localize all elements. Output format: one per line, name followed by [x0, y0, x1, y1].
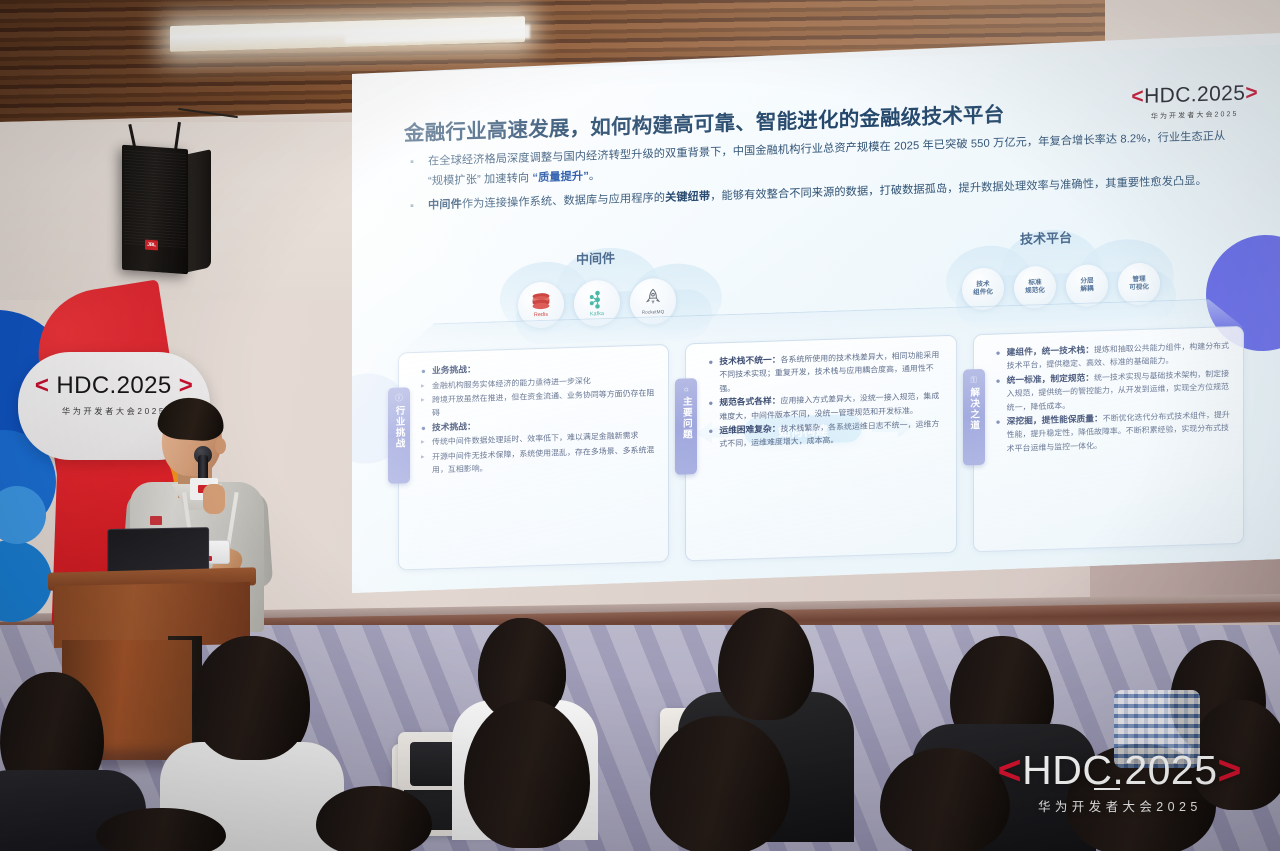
middleware-cloud-title: 中间件: [576, 248, 615, 268]
list-bullet: ●: [996, 415, 1002, 455]
column-body: ●建组件，统一技术栈：提炼和抽取公共能力组件，构建分布式技术平台，提供稳定、高效…: [974, 327, 1243, 468]
component-redis-label: Redis: [534, 311, 548, 317]
list-bullet: ●: [996, 374, 1002, 414]
projection-screen-surface: 金融行业高速发展，如何构建高可靠、智能进化的金融级技术平台 <HDC.2025>…: [352, 4, 1280, 593]
list-item: ●技术栈不统一：各系统所使用的技术栈差异大，相同功能采用不同技术实现；重复开发，…: [708, 348, 943, 396]
list-bullet: ●: [708, 397, 714, 424]
list-item-bold: 运维困难复杂：: [719, 423, 780, 435]
question-mark-icon: ⓘ: [395, 393, 403, 402]
list-bullet: ●: [708, 355, 714, 395]
capability-label: 标准 规范化: [1025, 279, 1045, 296]
audience-head-hair: [192, 636, 310, 760]
column-tab-main-problems: ☼ 主要问题: [675, 378, 697, 475]
audience-head: [650, 716, 790, 851]
column-tab-label: 解决之道: [968, 387, 979, 431]
list-item-bold: 技术挑战：: [432, 421, 476, 432]
column-solutions: ⚿ 解决之道 ●建组件，统一技术栈：提炼和抽取公共能力组件，构建分布式技术平台，…: [973, 326, 1244, 553]
column-industry-challenges: ⓘ 行业挑战 ●业务挑战： ▸金融机构服务实体经济的能力亟待进一步深化 ▸跨境开…: [398, 344, 669, 571]
chevron-left-icon: <: [35, 372, 49, 399]
jbl-logo-icon: JBL: [145, 240, 158, 251]
column-tab-label: 主要问题: [681, 396, 692, 440]
capability-label: 技术 组件化: [973, 280, 993, 297]
watermark-underscore: [1094, 788, 1120, 791]
list-bullet: ▸: [421, 436, 427, 450]
audience-head: [316, 786, 432, 851]
column-body: ●业务挑战： ▸金融机构服务实体经济的能力亟待进一步深化 ▸跨境开放虽然在推进，…: [399, 345, 668, 489]
bullet-seg: 作为连接操作系统、数据库与应用程序的: [462, 192, 665, 210]
jbl-logo-text: JBL: [147, 242, 156, 249]
slide-brand-text: HDC.2025: [1144, 82, 1245, 108]
bullet-seg-bold: 关键纽带: [665, 191, 710, 204]
list-bullet: ●: [421, 365, 427, 379]
capability-label: 分层 解耦: [1080, 277, 1093, 294]
list-item-bold: 规范各式各样：: [719, 396, 780, 408]
watermark-text: HDC.2025: [1022, 747, 1217, 793]
podium-front-panel: [54, 582, 250, 648]
column-tab-label: 行业挑战: [394, 405, 405, 449]
slide-chevron-right-icon: >: [1245, 81, 1258, 104]
list-bullet: ▸: [421, 379, 427, 393]
presenter-hand: [203, 484, 225, 514]
list-item-text: 深挖掘，提性能保质量：不断优化迭代分布式技术组件，提升性能，提升稳定性，降低故障…: [1007, 408, 1231, 455]
list-item: ●统一标准，制定规范：统一技术实现与基础技术架构，制定接入规范，提供统一的管控能…: [996, 367, 1231, 415]
list-item-text: 开源中间件无技术保障，系统使用混乱，存在多场景、多系统混用，互相影响。: [432, 443, 656, 477]
slide-brand-logo: <HDC.2025> 华为开发者大会2025: [1131, 81, 1258, 123]
slide-brand-sub: 华为开发者大会2025: [1131, 108, 1258, 122]
bullet-marker: ▪: [410, 152, 418, 192]
chevron-right-icon: >: [179, 372, 193, 399]
watermark-chevron-left-icon: <: [998, 747, 1022, 793]
sun-idea-icon: ☼: [683, 384, 690, 393]
list-bullet: ●: [708, 425, 714, 452]
watermark-sub: 华为开发者大会2025: [998, 796, 1242, 815]
slide-chevron-left-icon: <: [1131, 85, 1144, 108]
component-kafka-label: Kafka: [590, 310, 604, 316]
list-bullet: ▸: [421, 450, 427, 477]
slide-three-columns: ⓘ 行业挑战 ●业务挑战： ▸金融机构服务实体经济的能力亟待进一步深化 ▸跨境开…: [398, 326, 1244, 571]
list-item-bold: 统一标准，制定规范：: [1007, 372, 1094, 385]
presenter-shirt-logo-icon: [150, 516, 162, 525]
bullet-marker: ▪: [410, 196, 418, 216]
list-item-bold: 深挖掘，提性能保质量：: [1007, 413, 1103, 426]
audience-head: [880, 748, 1010, 851]
list-item: ●深挖掘，提性能保质量：不断优化迭代分布式技术组件，提升性能，提升稳定性，降低故…: [996, 408, 1231, 456]
list-bullet: ▸: [421, 394, 427, 421]
presentation-slide: 金融行业高速发展，如何构建高可靠、智能进化的金融级技术平台 <HDC.2025>…: [352, 45, 1280, 594]
list-bullet: ●: [996, 346, 1002, 373]
column-body: ●技术栈不统一：各系统所使用的技术栈差异大，相同功能采用不同技术实现；重复开发，…: [686, 336, 955, 463]
capability-label: 管理 可视化: [1129, 275, 1149, 292]
column-tab-industry-challenges: ⓘ 行业挑战: [388, 387, 410, 484]
projection-screen: 金融行业高速发展，如何构建高可靠、智能进化的金融级技术平台 <HDC.2025>…: [352, 33, 1280, 593]
tech-platform-cloud-title: 技术平台: [1020, 227, 1072, 248]
list-item-text: 运维困难复杂：技术栈繁杂，各系统运维日志不统一，运维方式不同，运维难度增大，成本…: [719, 417, 943, 451]
list-item-text: 技术挑战：: [432, 420, 476, 435]
list-item-text: 业务挑战：: [432, 363, 476, 378]
list-item-text: 技术栈不统一：各系统所使用的技术栈差异大，相同功能采用不同技术实现；重复开发，技…: [719, 348, 943, 395]
watermark-main: <HDC.2025>: [998, 747, 1242, 794]
audience-head-hair: [718, 608, 814, 720]
key-icon: ⚿: [971, 375, 977, 384]
list-bullet: ●: [421, 421, 427, 435]
photo-watermark: <HDC.2025> 华为开发者大会2025: [998, 747, 1242, 816]
list-item-bold: 业务挑战：: [432, 364, 476, 375]
rocket-icon: [645, 288, 661, 308]
conference-photo-scene: JBL < HDC.2025 > 华为开发者大会2025: [0, 0, 1280, 851]
watermark-chevron-right-icon: >: [1218, 747, 1242, 793]
audience-head: [464, 700, 590, 848]
stage-backdrop-logo-main: < HDC.2025 >: [34, 372, 194, 400]
speaker-grille: [124, 148, 186, 248]
bullet-seg-bold: 中间件: [428, 199, 462, 212]
slide-brand-main: <HDC.2025>: [1131, 81, 1258, 109]
speaker-cabinet-side: [185, 149, 211, 273]
column-tab-solutions: ⚿ 解决之道: [963, 369, 985, 466]
column-main-problems: ☼ 主要问题 ●技术栈不统一：各系统所使用的技术栈差异大，相同功能采用不同技术实…: [685, 335, 956, 562]
redis-stack-icon: [531, 292, 551, 310]
bullet-seg-highlight: “质量提升”: [532, 170, 589, 184]
list-item-bold: 技术栈不统一：: [719, 354, 780, 366]
list-item-bold: 建组件，统一技术栈：: [1007, 344, 1094, 357]
list-item-text: 统一标准，制定规范：统一技术实现与基础技术架构，制定接入规范，提供统一的管控能力…: [1007, 367, 1231, 414]
presenter-ear: [215, 438, 226, 454]
stage-backdrop-logo-text: HDC.2025: [56, 372, 171, 399]
component-rocketmq-label: RocketMQ: [642, 309, 665, 315]
kafka-node-icon: [588, 289, 607, 309]
bullet-seg: 。: [589, 170, 600, 182]
